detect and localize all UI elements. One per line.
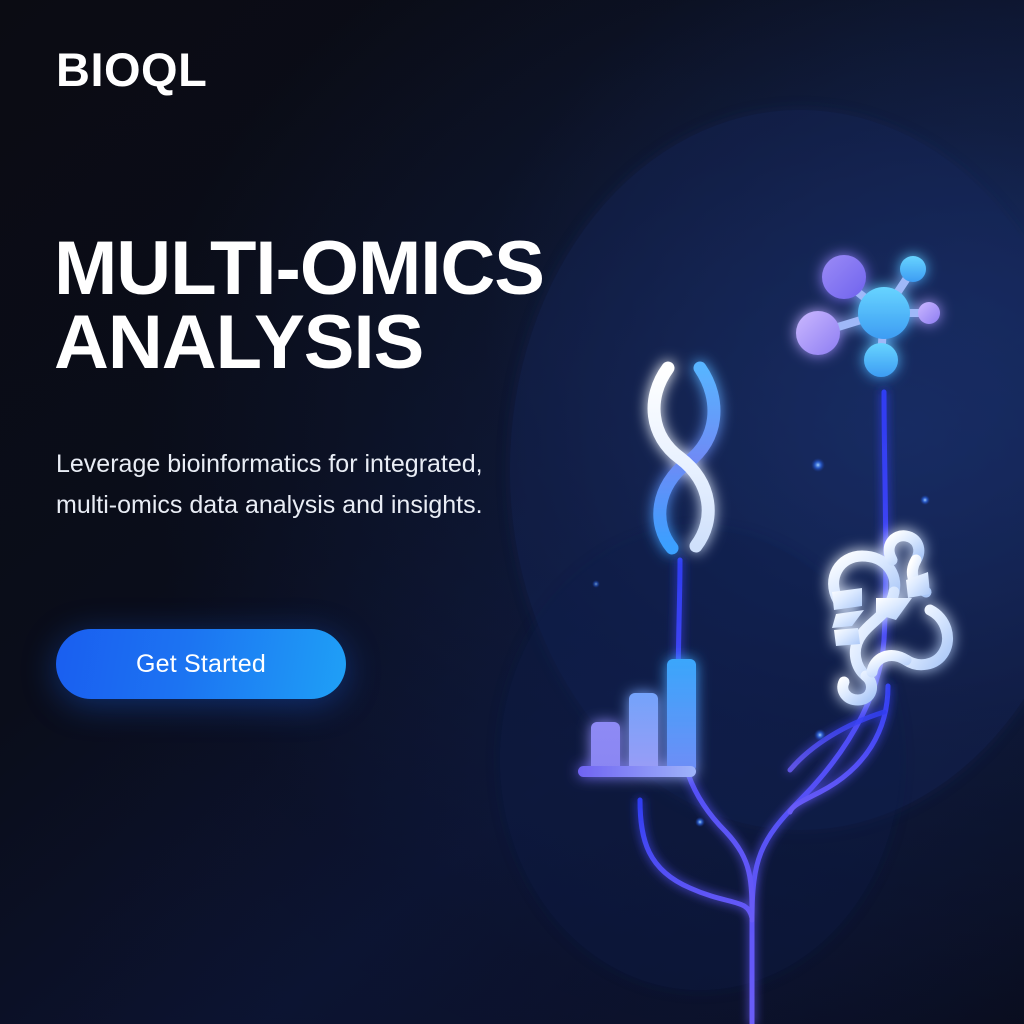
- ambient-haze: [510, 110, 1024, 830]
- branch-cross-upper: [790, 712, 884, 770]
- get-started-button[interactable]: Get Started: [56, 629, 346, 699]
- ambient-haze-lower: [500, 530, 900, 990]
- protein-structure-icon: [832, 536, 948, 700]
- branch-to-protein: [790, 686, 888, 812]
- molecule-node: [918, 302, 940, 324]
- hero-poster: BIOQL MULTI-OMICS ANALYSIS Leverage bioi…: [0, 0, 1024, 1024]
- chart-bar-2: [629, 693, 658, 772]
- glow-dot: [592, 580, 600, 588]
- molecule-node-center: [858, 287, 910, 339]
- chart-bar-3: [667, 659, 696, 772]
- glow-dot: [695, 817, 705, 827]
- molecule-icon: [796, 255, 940, 377]
- branch-network: [640, 392, 888, 1024]
- glow-dot: [920, 495, 930, 505]
- chart-bar-1: [591, 722, 620, 772]
- glow-dot: [814, 729, 826, 741]
- branch-to-chart: [640, 800, 752, 918]
- molecule-node: [796, 311, 840, 355]
- protein-helix: [832, 588, 864, 646]
- molecule-bonds: [828, 272, 925, 358]
- molecule-node: [900, 256, 926, 282]
- chart-baseline: [578, 766, 696, 777]
- dna-rungs: [657, 388, 711, 534]
- glow-dot: [811, 458, 825, 472]
- molecule-node: [822, 255, 866, 299]
- trunk-line-right: [752, 392, 886, 1024]
- page-title: MULTI-OMICS ANALYSIS: [54, 232, 654, 381]
- bar-chart-icon: [578, 659, 696, 777]
- molecule-node: [864, 343, 898, 377]
- hero-subheadline: Leverage bioinformatics for integrated, …: [56, 444, 486, 525]
- protein-sheet: [876, 572, 930, 620]
- branch-to-dna: [678, 560, 752, 920]
- brand-logo[interactable]: BIOQL: [56, 46, 207, 93]
- dna-helix-icon: [654, 368, 716, 548]
